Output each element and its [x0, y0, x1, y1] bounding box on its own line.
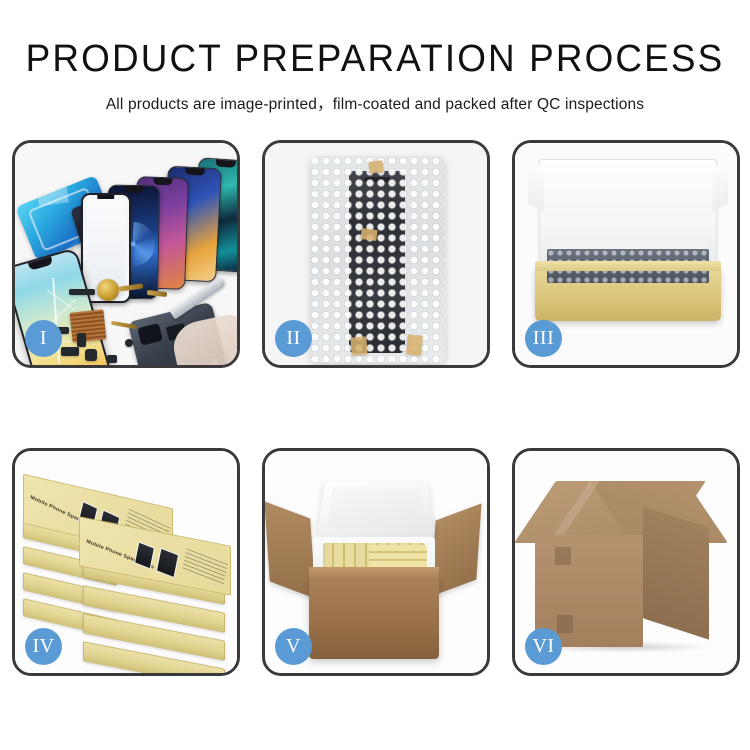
process-step-2: II [262, 140, 490, 368]
process-step-grid: I II [12, 140, 742, 676]
process-step-4: Mobile Phone Spare Parts Mobile Phone Sp… [12, 448, 240, 676]
carton-tab [557, 615, 573, 633]
speaker-module [97, 279, 119, 301]
notch-icon [153, 178, 172, 186]
yellow-box-tray [535, 267, 721, 321]
header: PRODUCT PREPARATION PROCESS All products… [0, 0, 750, 114]
process-step-5: V [262, 448, 490, 676]
tape-piece [350, 336, 367, 355]
page-title: PRODUCT PREPARATION PROCESS [11, 40, 739, 78]
step-badge-3: III [525, 320, 562, 357]
notch-icon [97, 195, 114, 202]
process-step-3: III [512, 140, 740, 368]
component-strip [69, 289, 95, 295]
carton-body [309, 577, 439, 659]
bubble-texture [311, 157, 445, 363]
notch-icon [215, 159, 235, 167]
step-badge-4: IV [25, 628, 62, 665]
box-phone-image [156, 547, 179, 578]
carton-front-edge [309, 567, 439, 581]
component-chip [61, 347, 79, 356]
tape-piece [368, 160, 383, 173]
bubble-wrap-bag [311, 157, 445, 363]
step-badge-5: V [275, 628, 312, 665]
foam-lid [317, 481, 436, 538]
step-badge-6: VI [525, 628, 562, 665]
carton-side-face [643, 506, 709, 639]
box-spec-lines [182, 548, 227, 585]
box-lip [535, 261, 721, 271]
carton-tab [555, 547, 571, 565]
camera-module [85, 349, 97, 361]
logic-board [70, 309, 107, 342]
process-step-6: VI [512, 448, 740, 676]
notch-icon [124, 186, 143, 193]
product-preparation-infographic: PRODUCT PREPARATION PROCESS All products… [0, 0, 750, 750]
step-badge-1: I [25, 320, 62, 357]
step-badge-2: II [275, 320, 312, 357]
component-chip [107, 355, 117, 363]
notch-icon [185, 168, 205, 176]
page-subtitle: All products are image-printed，film-coat… [0, 92, 750, 114]
process-step-1: I [12, 140, 240, 368]
screw [125, 339, 133, 347]
tape-piece [406, 334, 423, 355]
tape-piece [360, 228, 377, 241]
component-chip [77, 333, 86, 347]
